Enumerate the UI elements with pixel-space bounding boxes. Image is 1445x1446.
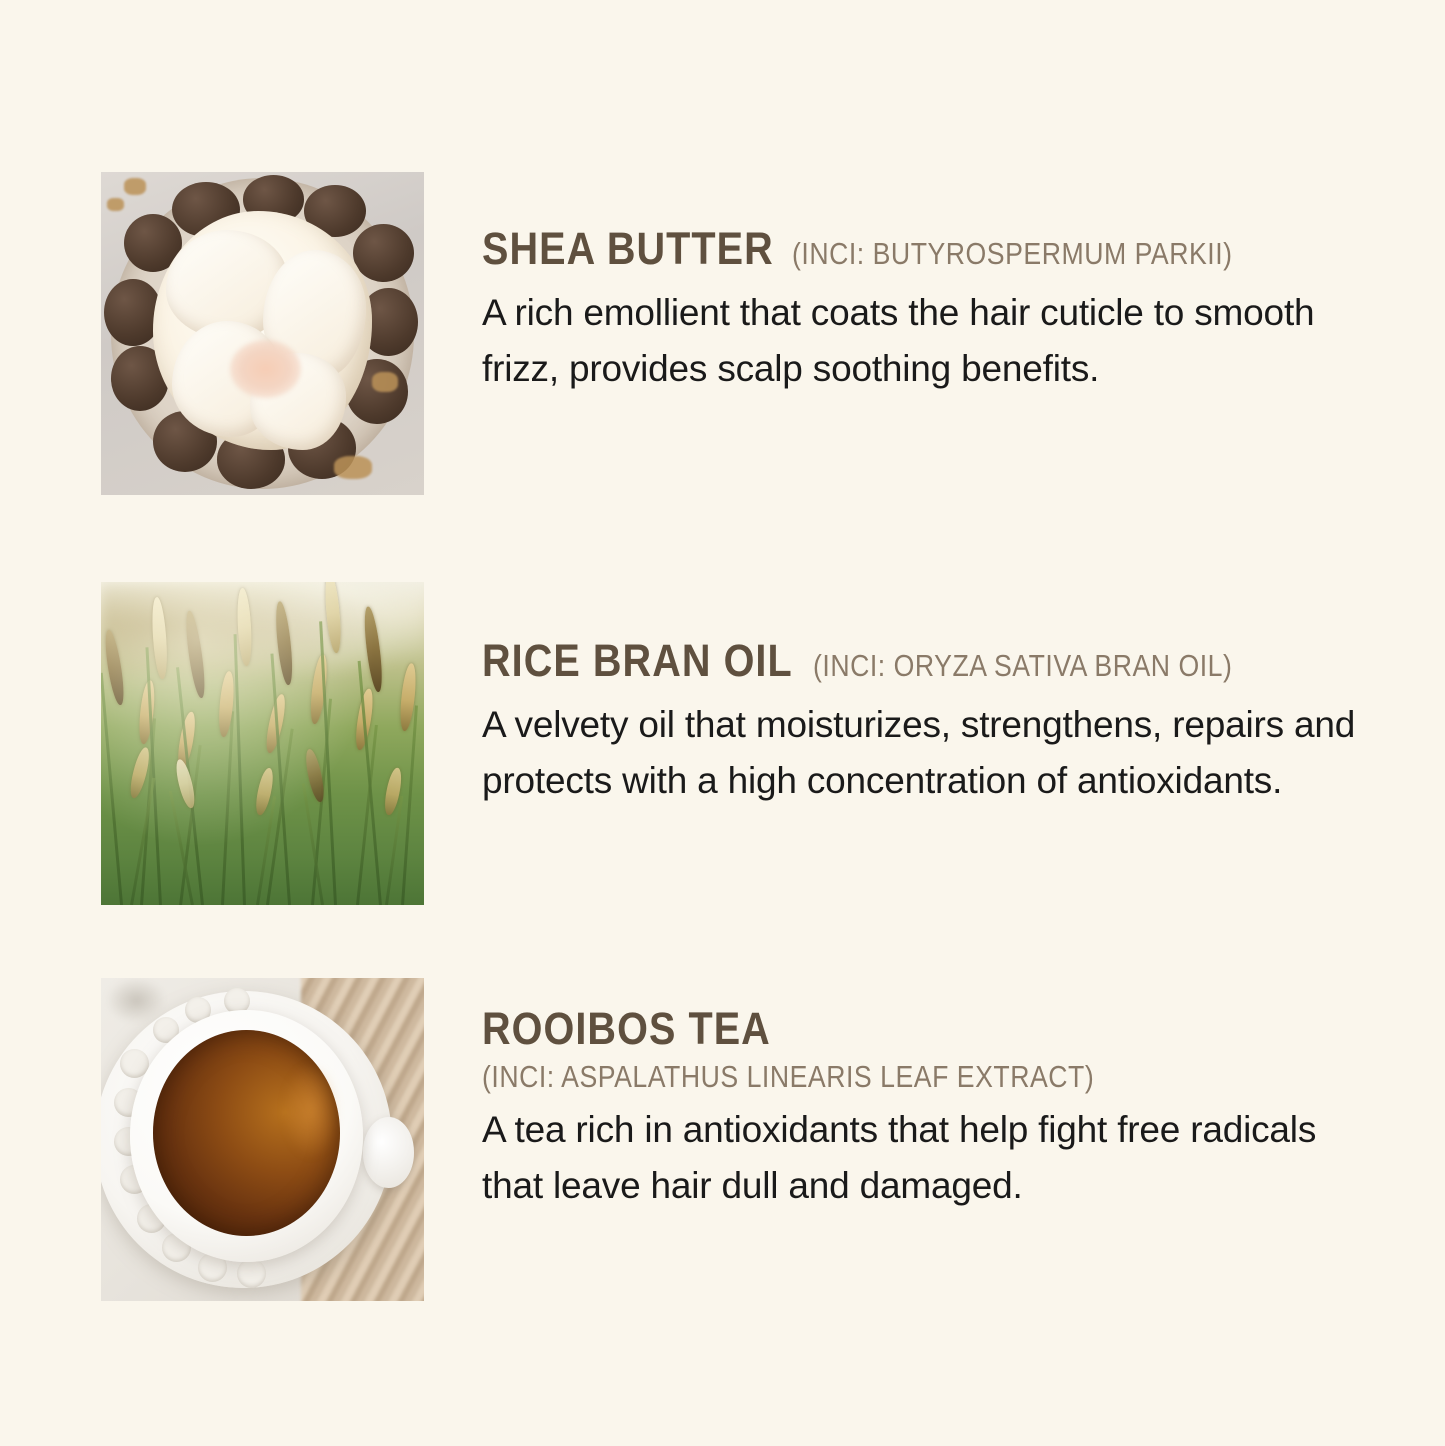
ingredient-description: A rich emollient that coats the hair cut… [482, 285, 1382, 397]
ingredient-heading: ROOIBOS TEA [482, 1006, 1382, 1051]
ingredient-description: A tea rich in antioxidants that help fig… [482, 1102, 1382, 1214]
ingredients-infographic: SHEA BUTTER(INCI: BUTYROSPERMUM PARKII) … [0, 0, 1445, 1446]
ingredient-text: SHEA BUTTER(INCI: BUTYROSPERMUM PARKII) … [482, 172, 1382, 397]
ingredient-inci-line: (INCI: ASPALATHUS LINEARIS LEAF EXTRACT) [482, 1061, 1382, 1092]
ingredient-heading: RICE BRAN OIL(INCI: ORYZA SATIVA BRAN OI… [482, 638, 1382, 683]
ingredient-text: RICE BRAN OIL(INCI: ORYZA SATIVA BRAN OI… [482, 582, 1382, 809]
ingredient-row: ROOIBOS TEA (INCI: ASPALATHUS LINEARIS L… [101, 978, 1382, 1301]
ingredient-name: ROOIBOS TEA [482, 1006, 771, 1051]
ingredient-row: RICE BRAN OIL(INCI: ORYZA SATIVA BRAN OI… [101, 582, 1382, 905]
ingredient-inci: (INCI: ASPALATHUS LINEARIS LEAF EXTRACT) [482, 1061, 1256, 1092]
rooibos-tea-photo [101, 978, 424, 1301]
rice-field-photo [101, 582, 424, 905]
ingredient-inci: (INCI: BUTYROSPERMUM PARKII) [792, 238, 1233, 269]
ingredient-description: A velvety oil that moisturizes, strength… [482, 697, 1382, 809]
ingredient-heading: SHEA BUTTER(INCI: BUTYROSPERMUM PARKII) [482, 226, 1382, 271]
ingredient-name: RICE BRAN OIL [482, 638, 793, 683]
shea-butter-photo [101, 172, 424, 495]
ingredient-inci: (INCI: ORYZA SATIVA BRAN OIL) [813, 650, 1232, 681]
ingredient-text: ROOIBOS TEA (INCI: ASPALATHUS LINEARIS L… [482, 978, 1382, 1214]
ingredient-row: SHEA BUTTER(INCI: BUTYROSPERMUM PARKII) … [101, 172, 1382, 495]
ingredient-name: SHEA BUTTER [482, 226, 774, 271]
